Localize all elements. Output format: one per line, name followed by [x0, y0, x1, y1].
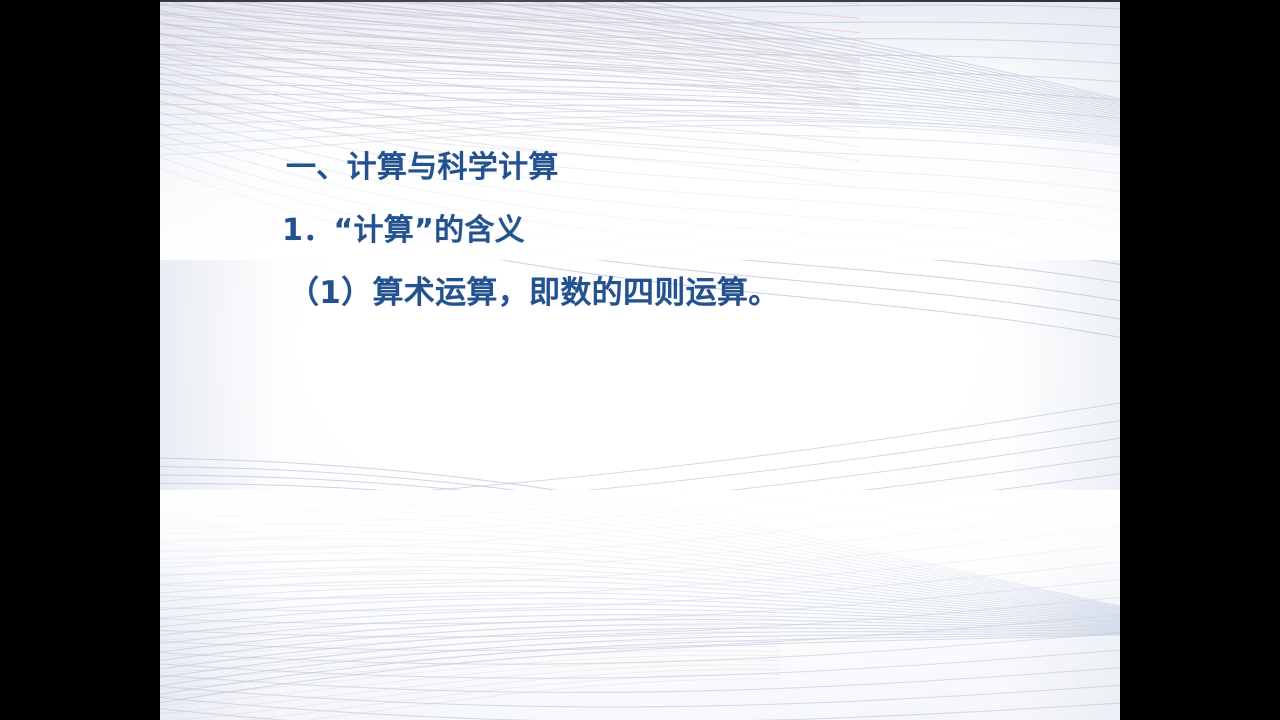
slide-canvas: 一、计算与科学计算 1．“计算”的含义 （1）算术运算，即数的四则运算。 [160, 0, 1120, 720]
letterbox-left [0, 0, 160, 720]
slide-bullet-1: （1）算术运算，即数的四则运算。 [288, 272, 780, 314]
slide-heading: 一、计算与科学计算 [286, 148, 559, 188]
slide-subheading: 1．“计算”的含义 [282, 211, 525, 251]
slide-text-content: 一、计算与科学计算 1．“计算”的含义 （1）算术运算，即数的四则运算。 [160, 0, 1120, 720]
slide-top-border [160, 0, 1120, 2]
presentation-screen: 一、计算与科学计算 1．“计算”的含义 （1）算术运算，即数的四则运算。 [0, 0, 1280, 720]
letterbox-right [1120, 0, 1280, 720]
